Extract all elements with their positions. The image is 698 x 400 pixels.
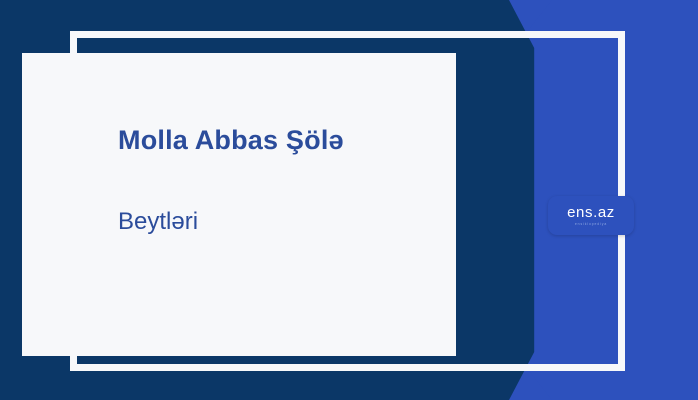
card-text-block: Molla Abbas Şölə Beytləri <box>118 125 438 236</box>
site-logo-name: ens.az <box>567 205 615 220</box>
site-logo-tagline: ensiklopediya <box>575 223 607 226</box>
page-title: Molla Abbas Şölə <box>118 125 438 156</box>
site-logo-badge[interactable]: ens.az ensiklopediya <box>548 196 634 235</box>
page-subtitle: Beytləri <box>118 208 438 236</box>
content-card: Molla Abbas Şölə Beytləri <box>22 53 456 356</box>
banner-canvas: Molla Abbas Şölə Beytləri ens.az ensiklo… <box>0 0 698 400</box>
